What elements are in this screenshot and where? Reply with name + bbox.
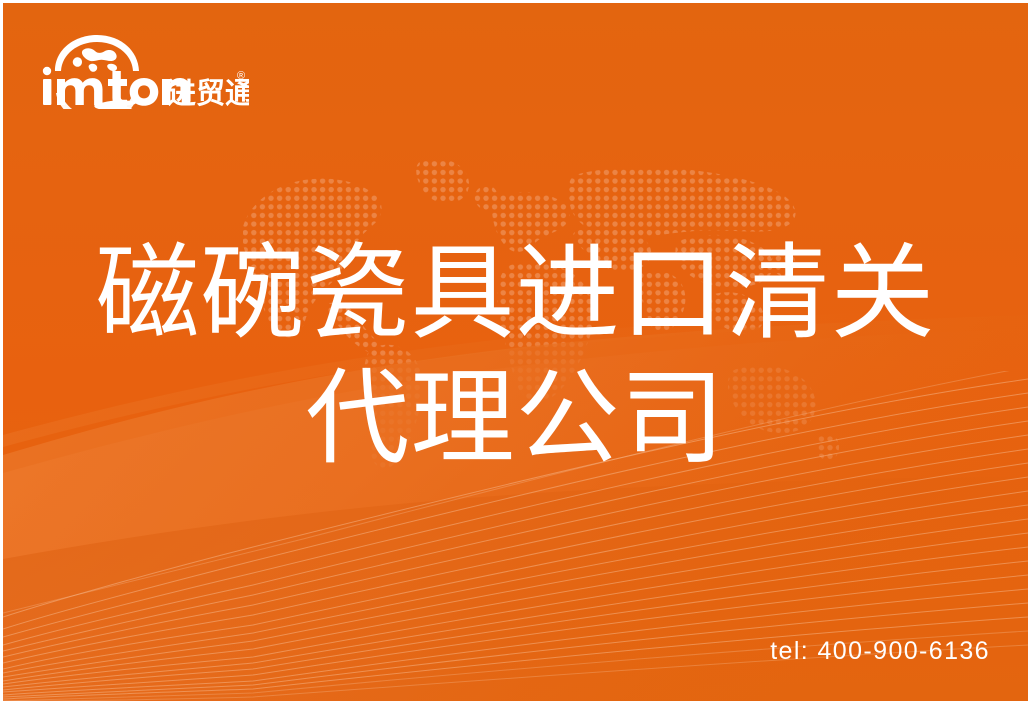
globe-icon xyxy=(55,35,139,72)
registered-trademark-symbol: ® xyxy=(237,70,245,82)
orange-background: 进贸通 ® 磁碗瓷具进口清关 代理公司 tel: 400-900-6136 xyxy=(3,3,1028,701)
poster-canvas: 进贸通 ® 磁碗瓷具进口清关 代理公司 tel: 400-900-6136 xyxy=(0,0,1031,704)
telephone-number: tel: 400-900-6136 xyxy=(770,637,990,666)
page-title: 磁碗瓷具进口清关 代理公司 xyxy=(3,231,1028,481)
headline-line-2: 代理公司 xyxy=(3,356,1028,481)
brand-logo[interactable]: 进贸通 ® xyxy=(39,31,249,109)
headline-line-1: 磁碗瓷具进口清关 xyxy=(3,231,1028,356)
